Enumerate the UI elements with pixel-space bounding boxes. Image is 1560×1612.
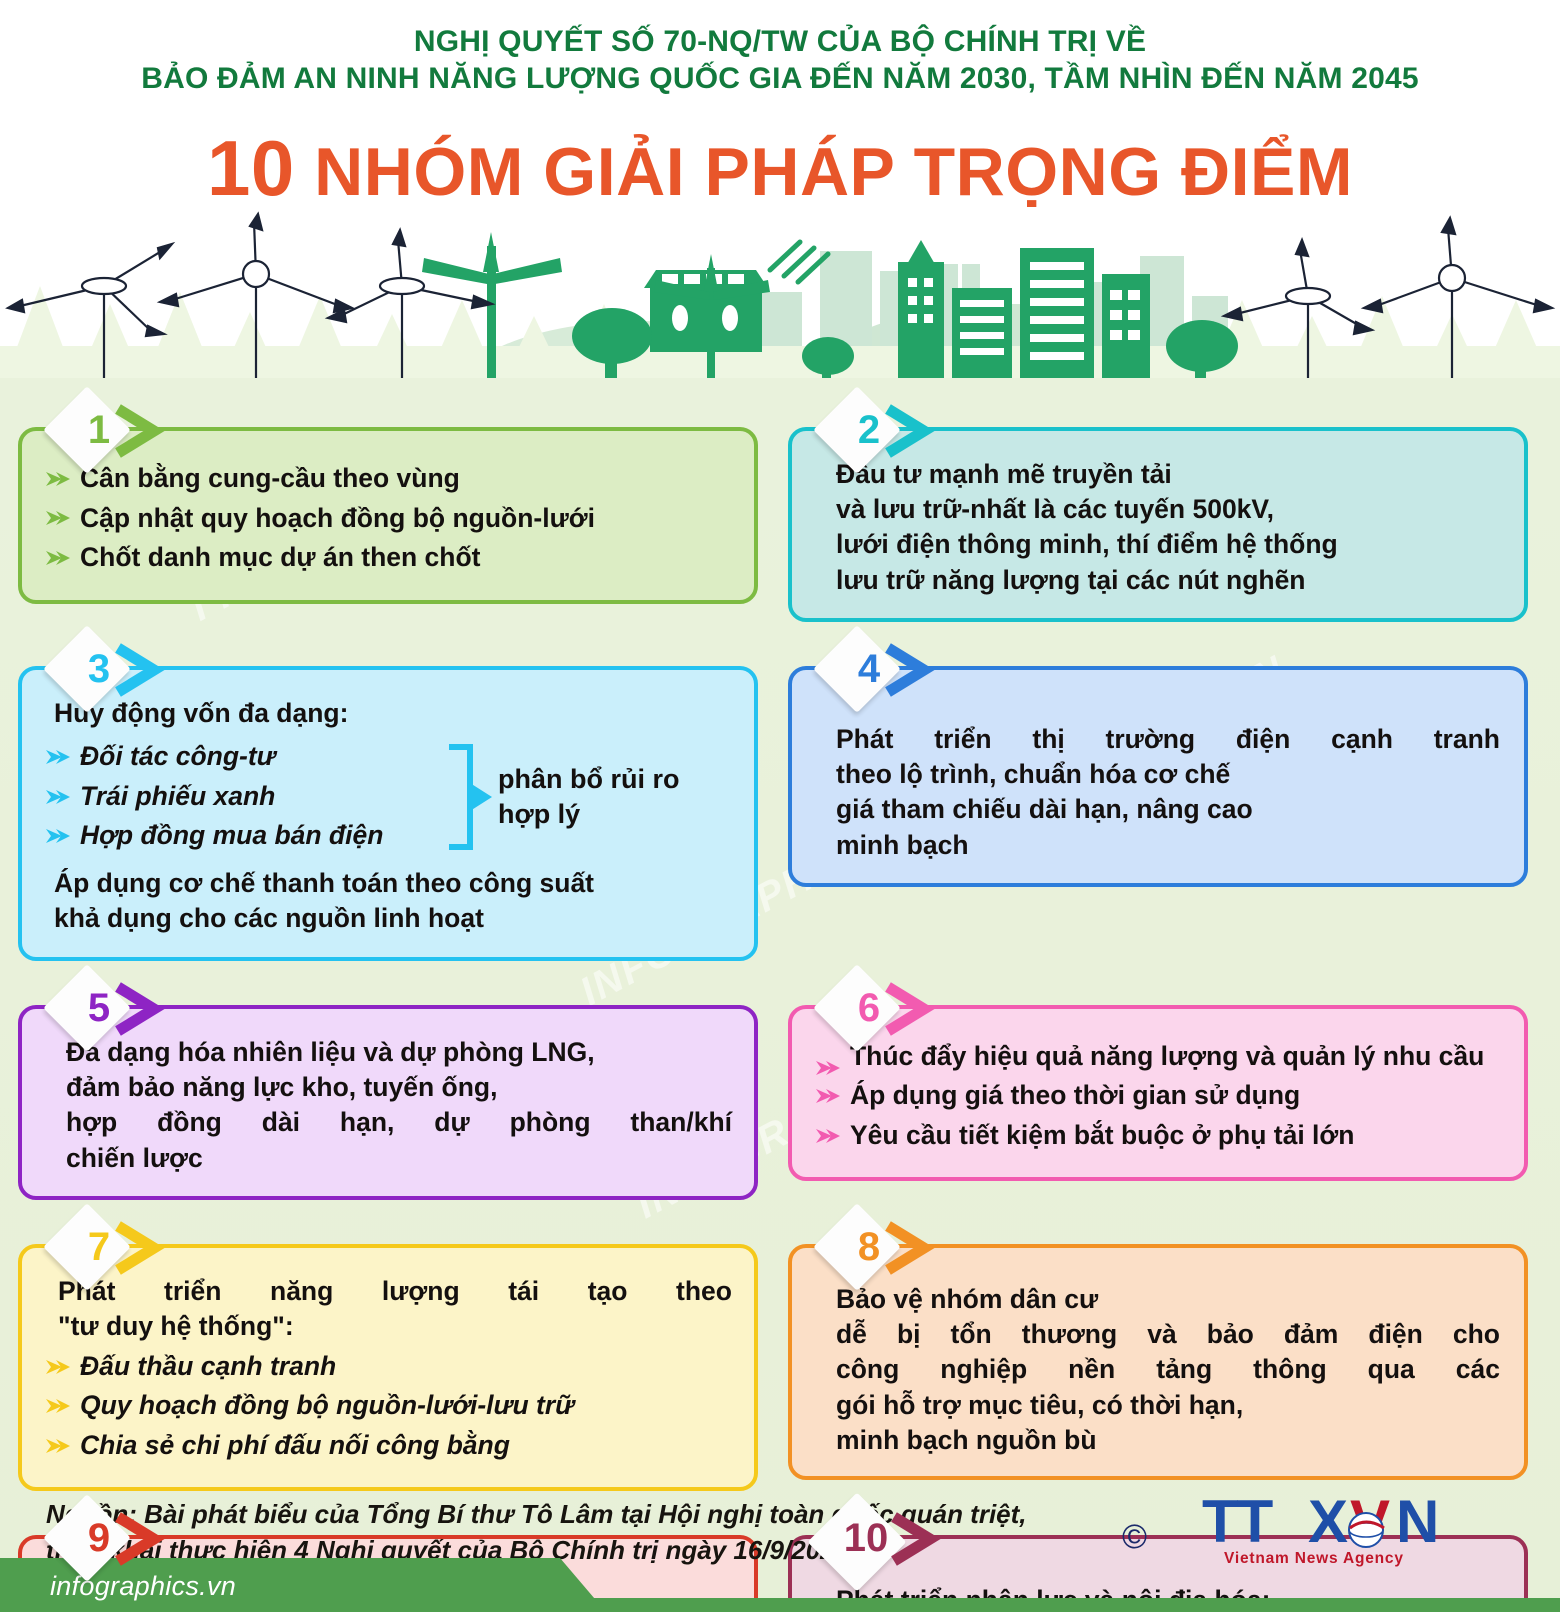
card-badge-3: 3	[48, 636, 176, 702]
text-line: minh bạch nguồn bù	[836, 1423, 1500, 1458]
text-line: gói hỗ trợ mục tiêu, có thời hạn,	[836, 1388, 1500, 1423]
text-line: và lưu trữ-nhất là các tuyến 500kV,	[836, 492, 1502, 527]
solution-card-7[interactable]: 7 Phát triển năng lượng tái tạo theo "tư…	[18, 1244, 758, 1492]
grid-col: 6 Thúc đẩy hiệu quả năng lượng và quản l…	[788, 973, 1528, 1200]
card-bullet-list-3: Đối tác công-tư Trái phiếu xanh Hợp đồng…	[44, 735, 444, 858]
bullet-text: Cập nhật quy hoạch đồng bộ nguồn-lưới	[80, 503, 595, 533]
list-item: Yêu cầu tiết kiệm bắt buộc ở phụ tải lớn	[814, 1118, 1502, 1154]
list-item: Hợp đồng mua bán điện	[44, 818, 444, 854]
bullet-arrow-icon	[46, 1397, 70, 1415]
card-number-10: 10	[818, 1505, 914, 1571]
card-badge-7: 7	[48, 1214, 176, 1280]
text-line: Bảo vệ nhóm dân cư	[836, 1282, 1500, 1317]
solution-card-5[interactable]: 5 Đa dạng hóa nhiên liệu và dự phòng LNG…	[18, 1005, 758, 1200]
card-number-8: 8	[818, 1214, 914, 1280]
card-badge-10: 10	[818, 1505, 946, 1571]
card-badge-5: 5	[48, 975, 176, 1041]
list-item: Cập nhật quy hoạch đồng bộ nguồn-lưới	[44, 501, 732, 537]
card-badge-4: 4	[818, 636, 946, 702]
grid-row: 1 Cân bằng cung-cầu theo vùng Cập nhật q…	[0, 395, 1560, 622]
bullet-text: Áp dụng giá theo thời gian sử dụng	[850, 1080, 1300, 1110]
grid-col: 7 Phát triển năng lượng tái tạo theo "tư…	[18, 1212, 758, 1492]
site-url[interactable]: infographics.vn	[50, 1571, 236, 1602]
bullet-text: Đấu thầu cạnh tranh	[80, 1351, 336, 1381]
card-badge-8: 8	[818, 1214, 946, 1280]
text-line: hợp lý	[498, 797, 680, 832]
solution-card-3[interactable]: 3 Huy động vốn đa dạng: Đối tác công-tư …	[18, 666, 758, 961]
text-line: công nghiệp nền tảng thông qua các	[836, 1352, 1500, 1387]
list-item: Thúc đẩy hiệu quả năng lượng và quản lý …	[814, 1039, 1502, 1075]
logo-subtitle: Vietnam News Agency	[1224, 1550, 1404, 1568]
solution-card-6[interactable]: 6 Thúc đẩy hiệu quả năng lượng và quản l…	[788, 1005, 1528, 1182]
card-paragraph-4: Phát triển thị trường điện cạnh tranh th…	[836, 722, 1500, 863]
grid-col: 1 Cân bằng cung-cầu theo vùng Cập nhật q…	[18, 395, 758, 622]
bullet-text: Chia sẻ chi phí đấu nối công bằng	[80, 1430, 510, 1460]
grid-col: 2 Đầu tư mạnh mẽ truyền tải và lưu trữ-n…	[788, 395, 1528, 622]
list-item: Quy hoạch đồng bộ nguồn-lưới-lưu trữ	[44, 1388, 732, 1424]
bracket-label-3: phân bổ rủi ro hợp lý	[498, 762, 680, 831]
bullet-text: Cân bằng cung-cầu theo vùng	[80, 463, 460, 493]
card-lead-7: Phát triển năng lượng tái tạo theo "tư d…	[58, 1274, 732, 1345]
bullet-arrow-icon	[46, 748, 70, 766]
bullet-arrow-icon	[46, 788, 70, 806]
grid-row: 3 Huy động vốn đa dạng: Đối tác công-tư …	[0, 634, 1560, 961]
grid-col: 5 Đa dạng hóa nhiên liệu và dự phòng LNG…	[18, 973, 758, 1200]
list-item: Áp dụng giá theo thời gian sử dụng	[814, 1078, 1502, 1114]
bullet-text: Đối tác công-tư	[80, 741, 276, 771]
text-line: Phát triển thị trường điện cạnh tranh	[836, 722, 1500, 757]
card-number-4: 4	[818, 636, 914, 702]
card-bullet-list-1: Cân bằng cung-cầu theo vùng Cập nhật quy…	[44, 461, 732, 576]
grid-col: 4 Phát triển thị trường điện cạnh tranh …	[788, 634, 1528, 961]
grid-row: 5 Đa dạng hóa nhiên liệu và dự phòng LNG…	[0, 973, 1560, 1200]
bullet-arrow-icon	[816, 1059, 840, 1077]
solution-card-4[interactable]: 4 Phát triển thị trường điện cạnh tranh …	[788, 666, 1528, 887]
energy-scenery-illustration	[0, 196, 1560, 395]
footer: Nguồn: Bài phát biểu của Tổng Bí thư Tô …	[0, 1470, 1560, 1612]
list-item: Chia sẻ chi phí đấu nối công bằng	[44, 1428, 732, 1464]
solution-card-1[interactable]: 1 Cân bằng cung-cầu theo vùng Cập nhật q…	[18, 427, 758, 604]
text-line: đảm bảo năng lực kho, tuyến ống,	[66, 1070, 732, 1105]
card-number-3: 3	[48, 636, 144, 702]
bullet-arrow-icon	[46, 1437, 70, 1455]
card-paragraph-5: Đa dạng hóa nhiên liệu và dự phòng LNG, …	[66, 1035, 732, 1176]
grid-row: 7 Phát triển năng lượng tái tạo theo "tư…	[0, 1212, 1560, 1492]
bullet-arrow-icon	[816, 1087, 840, 1105]
svg-text:TT: TT	[1202, 1488, 1273, 1555]
bullet-text: Yêu cầu tiết kiệm bắt buộc ở phụ tải lớn	[850, 1120, 1354, 1150]
card-number-9: 9	[48, 1505, 144, 1571]
list-item: Đối tác công-tư	[44, 739, 444, 775]
card-bullet-list-7: Đấu thầu cạnh tranh Quy hoạch đồng bộ ng…	[44, 1349, 732, 1464]
card-paragraph-2: Đầu tư mạnh mẽ truyền tải và lưu trữ-nhấ…	[836, 457, 1502, 598]
text-line: dễ bị tổn thương và bảo đảm điện cho	[836, 1317, 1500, 1352]
bullet-arrow-icon	[46, 1358, 70, 1376]
bullet-arrow-icon	[46, 509, 70, 527]
text-line: lưu trữ năng lượng tại các nút nghẽn	[836, 563, 1502, 598]
card-tail-3: Áp dụng cơ chế thanh toán theo công suất…	[54, 866, 732, 937]
grid-col: 3 Huy động vốn đa dạng: Đối tác công-tư …	[18, 634, 758, 961]
eyebrow-line-1: NGHỊ QUYẾT SỐ 70-NQ/TW CỦA BỘ CHÍNH TRỊ …	[0, 0, 1560, 61]
text-line: khả dụng cho các nguồn linh hoạt	[54, 901, 732, 937]
eyebrow-line-2: BẢO ĐẢM AN NINH NĂNG LƯỢNG QUỐC GIA ĐẾN …	[0, 61, 1560, 98]
copyright-icon: ©	[1122, 1518, 1147, 1557]
text-line: phân bổ rủi ro	[498, 762, 680, 797]
bullet-text: Trái phiếu xanh	[80, 781, 275, 811]
card-paragraph-8: Bảo vệ nhóm dân cư dễ bị tổn thương và b…	[836, 1282, 1500, 1458]
bullet-text: Quy hoạch đồng bộ nguồn-lưới-lưu trữ	[80, 1390, 574, 1420]
card-number-7: 7	[48, 1214, 144, 1280]
list-item: Cân bằng cung-cầu theo vùng	[44, 461, 732, 497]
text-line: minh bạch	[836, 828, 1500, 863]
bullet-arrow-icon	[46, 549, 70, 567]
text-line: giá tham chiếu dài hạn, nâng cao	[836, 792, 1500, 827]
list-item: Chốt danh mục dự án then chốt	[44, 540, 732, 576]
header: NGHỊ QUYẾT SỐ 70-NQ/TW CỦA BỘ CHÍNH TRỊ …	[0, 0, 1560, 395]
card-bullet-list-6: Thúc đẩy hiệu quả năng lượng và quản lý …	[814, 1039, 1502, 1154]
list-item: Đấu thầu cạnh tranh	[44, 1349, 732, 1385]
text-line: lưới điện thông minh, thí điểm hệ thống	[836, 527, 1502, 562]
bracket-group-3: Đối tác công-tư Trái phiếu xanh Hợp đồng…	[44, 735, 732, 858]
text-line: theo lộ trình, chuẩn hóa cơ chế	[836, 757, 1500, 792]
text-line: Áp dụng cơ chế thanh toán theo công suất	[54, 866, 732, 902]
solution-card-8[interactable]: 8 Bảo vệ nhóm dân cư dễ bị tổn thương và…	[788, 1244, 1528, 1480]
text-line: "tư duy hệ thống":	[58, 1309, 732, 1345]
svg-text:X: X	[1308, 1488, 1348, 1555]
card-number-1: 1	[48, 397, 144, 463]
card-number-2: 2	[818, 397, 914, 463]
grouping-bracket-icon	[446, 741, 492, 853]
card-badge-9: 9	[48, 1505, 176, 1571]
card-badge-6: 6	[818, 975, 946, 1041]
solution-card-2[interactable]: 2 Đầu tư mạnh mẽ truyền tải và lưu trữ-n…	[788, 427, 1528, 622]
grid-col: 8 Bảo vệ nhóm dân cư dễ bị tổn thương và…	[788, 1212, 1528, 1492]
bullet-text: Thúc đẩy hiệu quả năng lượng và quản lý …	[850, 1041, 1484, 1071]
bullet-text: Chốt danh mục dự án then chốt	[80, 542, 480, 572]
bullet-arrow-icon	[46, 470, 70, 488]
bullet-arrow-icon	[816, 1127, 840, 1145]
bullet-arrow-icon	[46, 827, 70, 845]
list-item: Trái phiếu xanh	[44, 779, 444, 815]
bullet-text: Hợp đồng mua bán điện	[80, 820, 383, 850]
infographic-page: NGHỊ QUYẾT SỐ 70-NQ/TW CỦA BỘ CHÍNH TRỊ …	[0, 0, 1560, 1612]
text-line: chiến lược	[66, 1141, 732, 1176]
card-badge-2: 2	[818, 397, 946, 463]
ttxvn-logo: TT X V N Vietnam News Agency	[1200, 1484, 1500, 1576]
card-number-6: 6	[818, 975, 914, 1041]
card-badge-1: 1	[48, 397, 176, 463]
solutions-grid: 1 Cân bằng cung-cầu theo vùng Cập nhật q…	[0, 395, 1560, 1612]
text-line: hợp đồng dài hạn, dự phòng than/khí	[66, 1105, 732, 1140]
card-number-5: 5	[48, 975, 144, 1041]
svg-text:N: N	[1396, 1488, 1439, 1555]
